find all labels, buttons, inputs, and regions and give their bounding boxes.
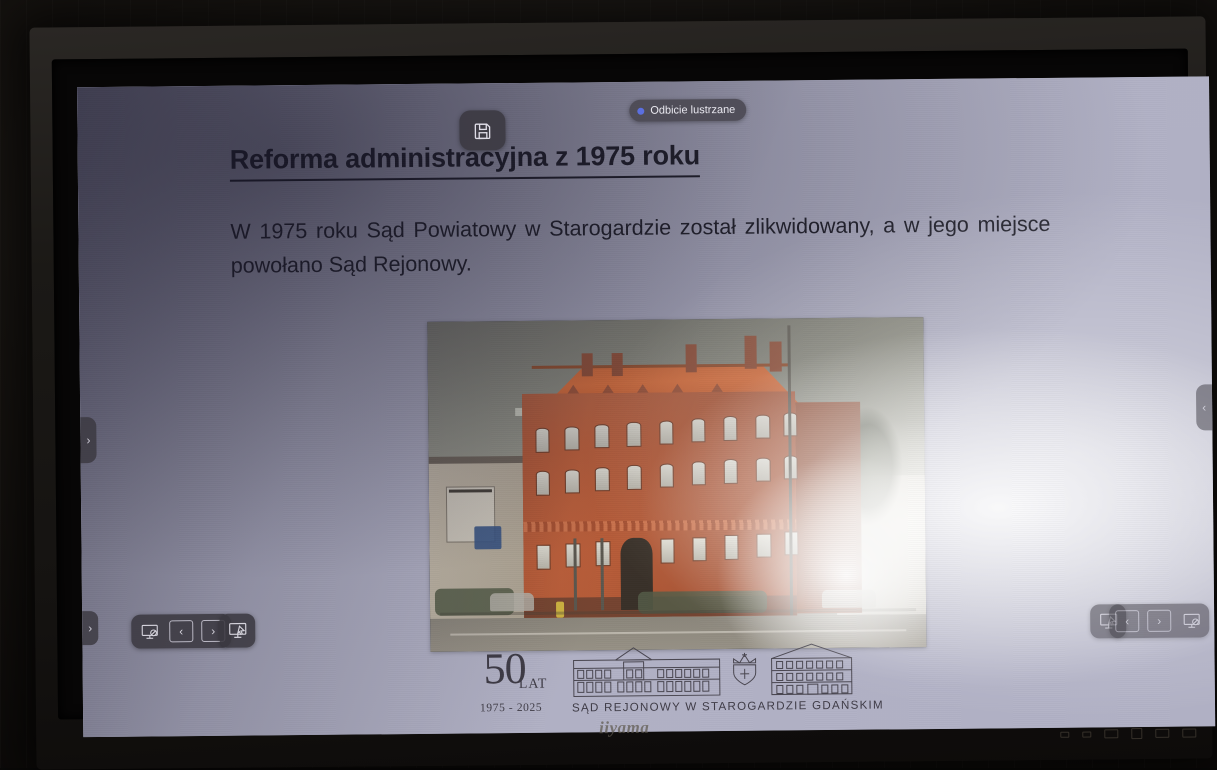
- monitor-chassis: Reforma administracyjna z 1975 roku W 19…: [29, 16, 1212, 769]
- crowned-shield-icon: [734, 653, 756, 685]
- drawer-tab-right[interactable]: ‹: [1196, 384, 1212, 430]
- screen-bezel: Reforma administracyjna z 1975 roku W 19…: [52, 49, 1194, 720]
- slide-body-text: W 1975 roku Sąd Powiatowy w Starogardzie…: [230, 208, 1051, 284]
- logo-artwork: SĄD REJONOWY W STAROGARDZIE GDAŃSKIM: [571, 641, 884, 714]
- screen-off-icon-mirrored[interactable]: [1179, 609, 1203, 631]
- hdmi-port-icon: [1104, 729, 1118, 738]
- prev-slide-button-mirrored[interactable]: ‹: [1115, 610, 1139, 632]
- floppy-disk-icon: [473, 121, 492, 140]
- audio-port-icon: [1082, 731, 1091, 737]
- power-port-icon: [1060, 731, 1069, 737]
- screen-off-icon[interactable]: [137, 620, 161, 642]
- presentation-toolbar-left[interactable]: ‹ ›: [131, 614, 231, 649]
- anniversary-mark: 50 LAT 1975 - 2025: [477, 645, 562, 716]
- usb-b-port-icon: [1131, 728, 1142, 739]
- screen-pointer-button-left[interactable]: [219, 614, 255, 648]
- presentation-toolbar-right[interactable]: ‹ ›: [1109, 603, 1209, 638]
- display-panel: Reforma administracyjna z 1975 roku W 19…: [77, 76, 1215, 737]
- prev-slide-button[interactable]: ‹: [169, 620, 193, 642]
- courthouse-line-art-icon: [571, 644, 871, 699]
- usb-a-port-icon: [1155, 729, 1169, 738]
- next-slide-button-mirrored[interactable]: ›: [1147, 610, 1171, 632]
- screen-pointer-icon: [228, 623, 247, 639]
- courthouse-photo: [427, 317, 926, 652]
- monitor-port-row: [1060, 727, 1196, 739]
- mirror-mode-badge[interactable]: Odbicie lustrzane: [629, 99, 746, 122]
- drawer-tab-left[interactable]: ›: [80, 417, 96, 463]
- anniversary-word: LAT: [519, 677, 548, 693]
- mirror-status-dot: [637, 107, 644, 114]
- drawer-tab-left-lower[interactable]: ›: [82, 611, 98, 645]
- photo-illustration: [427, 317, 926, 652]
- photo-glare: [427, 317, 926, 652]
- mirror-mode-label: Odbicie lustrzane: [650, 104, 735, 117]
- usb-a-port-icon-2: [1182, 728, 1196, 737]
- footer-logo: 50 LAT 1975 - 2025: [477, 638, 878, 716]
- save-button[interactable]: [459, 110, 505, 150]
- anniversary-years: 1975 - 2025: [480, 702, 542, 715]
